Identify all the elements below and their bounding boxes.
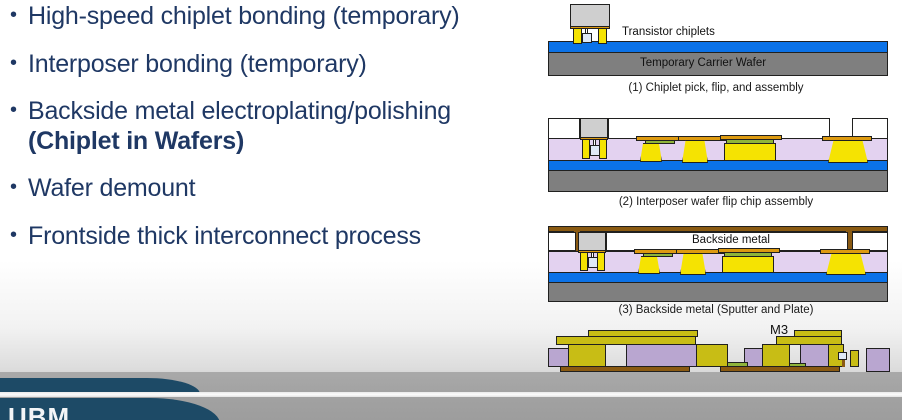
bump-pillar-d (828, 140, 868, 163)
bullet-item-1: • High-speed chiplet bonding (temporary) (10, 2, 520, 32)
interposer-wafer-left (548, 118, 580, 139)
interposer-region-5 (866, 348, 890, 372)
bump-pillar-c (724, 143, 776, 161)
bullet-text-4: Wafer demount (28, 174, 520, 204)
chiplet-body-rect (578, 232, 606, 251)
bullet-item-5: • Frontside thick interconnect process (10, 222, 520, 252)
microbump-solder (588, 257, 598, 268)
copper-pillar-right (598, 28, 607, 44)
footer-logo-text: UBM (8, 402, 70, 420)
bullet-text-3-normal: Backside metal electroplating/polishing (28, 97, 451, 125)
bullet-text-2: Interposer bonding (temporary) (28, 50, 520, 80)
slide-footer-banner: UBM (0, 372, 902, 420)
bump-pillar-a (640, 143, 662, 162)
bullet-text-3: Backside metal electroplating/polishing(… (28, 97, 520, 156)
label-temporary-carrier-wafer: Temporary Carrier Wafer (640, 57, 766, 69)
figure-panel-2-drawing (530, 108, 902, 196)
footer-hairline-divider (0, 392, 902, 397)
bullet-marker-icon: • (10, 222, 28, 249)
bullet-text-1: High-speed chiplet bonding (temporary) (28, 2, 520, 32)
label-m3: M3 (770, 322, 788, 337)
m3-metal-block-1 (568, 344, 606, 367)
bullet-item-4: • Wafer demount (10, 174, 520, 204)
label-transistor-chiplets: Transistor chiplets (622, 26, 715, 38)
bullet-marker-icon: • (10, 2, 28, 29)
m3-metal-trace-1 (556, 336, 696, 345)
microbump-solder (582, 33, 592, 43)
figure-panel-3-drawing: Backside metal (530, 224, 902, 304)
label-backside-metal: Backside metal (692, 234, 770, 246)
figure-panel-1-drawing: Transistor chiplets Temporary Carrier Wa… (530, 0, 902, 82)
caption-panel-1: (1) Chiplet pick, flip, and assembly (530, 82, 902, 94)
chiplet-body-rect (570, 4, 610, 27)
temporary-carrier-wafer-rect (548, 170, 888, 192)
caption-panel-3: (3) Backside metal (Sputter and Plate) (530, 304, 902, 316)
bump-pillar-d (826, 253, 866, 275)
bump-pillar-b (682, 140, 708, 163)
copper-pillar-left (580, 252, 588, 271)
bump-pillar-b (680, 253, 706, 275)
m3-metal-trace-2 (588, 330, 698, 337)
copper-pillar-left (582, 139, 590, 159)
copper-pillar-right (597, 252, 605, 271)
copper-pillar-right (599, 139, 607, 159)
m3-metal-block-3 (762, 344, 790, 367)
bullet-item-2: • Interposer bonding (temporary) (10, 50, 520, 80)
figure-panel-3: Backside metal (3) Backside metal (Sputt… (530, 224, 902, 324)
m3-metal-block-5 (850, 350, 859, 367)
bump-pillar-a (638, 256, 660, 274)
copper-pillar-left (573, 28, 582, 44)
bullet-text-5: Frontside thick interconnect process (28, 222, 520, 252)
bullet-list: • High-speed chiplet bonding (temporary)… (10, 2, 520, 302)
wafer-region-left (548, 232, 576, 251)
bullet-marker-icon: • (10, 174, 28, 201)
temporary-carrier-wafer-rect (548, 282, 888, 302)
bullet-marker-icon: • (10, 97, 28, 124)
bullet-text-3-bold: (Chiplet in Wafers) (28, 127, 244, 155)
bullet-marker-icon: • (10, 50, 28, 77)
caption-panel-2: (2) Interposer wafer flip chip assembly (530, 196, 902, 208)
interposer-region-2 (626, 344, 704, 367)
process-flow-figures: Transistor chiplets Temporary Carrier Wa… (530, 0, 902, 420)
microbump-solder (838, 352, 847, 360)
slide-canvas: • High-speed chiplet bonding (temporary)… (0, 0, 902, 420)
figure-panel-2: (2) Interposer wafer flip chip assembly (530, 108, 902, 216)
m3-metal-trace-4 (794, 330, 842, 337)
microbump-solder (590, 145, 600, 156)
m3-metal-block-2 (696, 344, 728, 367)
figure-panel-1: Transistor chiplets Temporary Carrier Wa… (530, 0, 902, 100)
bump-pillar-c (722, 256, 774, 273)
chiplet-body-rect (580, 118, 608, 138)
bullet-item-3: • Backside metal electroplating/polishin… (10, 97, 520, 156)
